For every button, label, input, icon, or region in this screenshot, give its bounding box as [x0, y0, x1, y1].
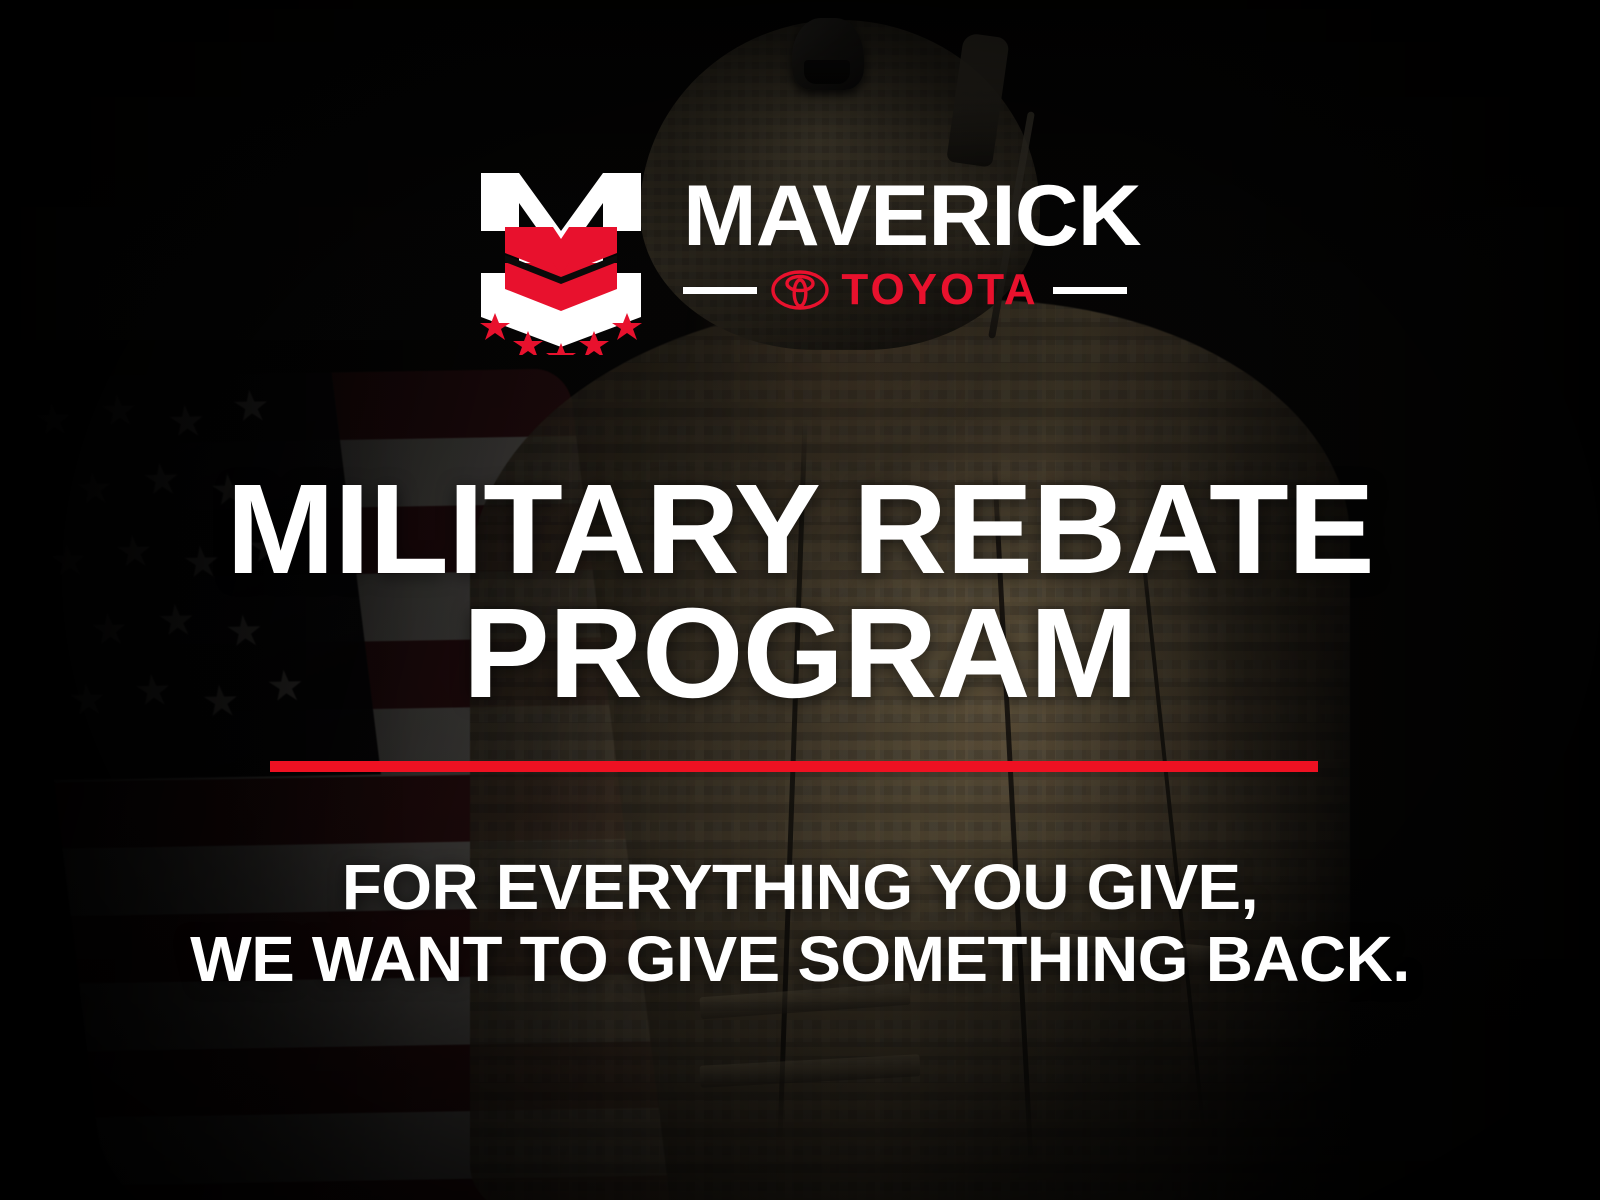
brand-name: MAVERICK: [683, 177, 1141, 256]
headline-line-1: MILITARY REBATE: [226, 458, 1374, 601]
toyota-mark: TOYOTA: [771, 268, 1038, 312]
tagline-line-1: FOR EVERYTHING YOU GIVE,: [342, 851, 1258, 923]
oem-lockup: TOYOTA: [683, 268, 1127, 312]
toyota-oval-logo-icon: [771, 270, 829, 310]
maverick-chevron-emblem-icon: [473, 165, 649, 355]
banner-content: MAVERICK TOYOTA MILITARY: [0, 0, 1600, 1200]
headline-line-2: PROGRAM: [0, 592, 1600, 716]
tagline: FOR EVERYTHING YOU GIVE, WE WANT TO GIVE…: [0, 852, 1600, 995]
lockup-rule-right: [1053, 287, 1128, 294]
military-rebate-banner: MAVERICK TOYOTA MILITARY: [0, 0, 1600, 1200]
tagline-line-2: WE WANT TO GIVE SOMETHING BACK.: [0, 924, 1600, 996]
lockup-rule-left: [683, 287, 758, 294]
oem-name: TOYOTA: [841, 268, 1038, 312]
red-divider: [270, 761, 1318, 772]
brand-wordmark: MAVERICK TOYOTA: [683, 165, 1127, 312]
brand-lockup: MAVERICK TOYOTA: [0, 165, 1600, 355]
page-title: MILITARY REBATE PROGRAM: [0, 468, 1600, 716]
